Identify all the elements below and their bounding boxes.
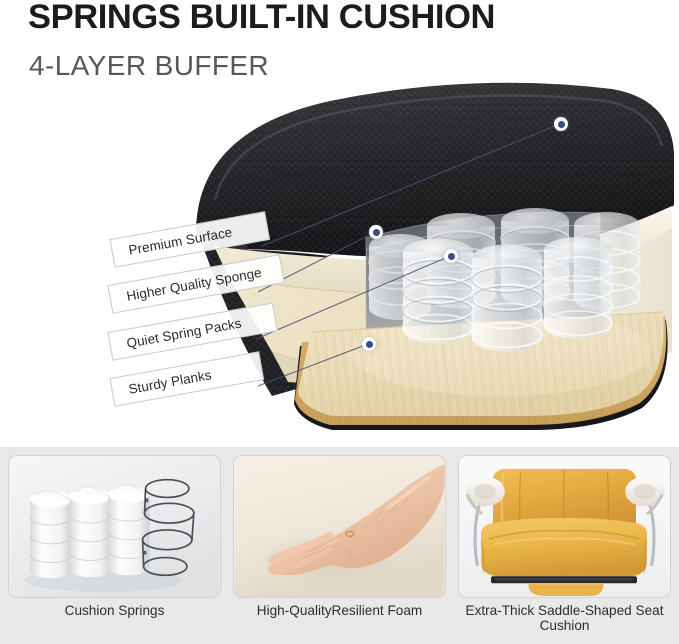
callout-dot-quiet-spring-packs[interactable]: [444, 249, 458, 263]
callout-dot-sturdy-planks[interactable]: [362, 337, 376, 351]
yellow-office-chair-illustration: [459, 456, 670, 597]
feature-panel-saddle-cushion: [458, 455, 671, 598]
callout-dot-higher-quality-sponge[interactable]: [369, 225, 383, 239]
saddle-seat-cushion: [481, 518, 647, 576]
hand-pressing-foam-illustration: [234, 456, 445, 597]
feature-panel-resilient-foam: [233, 455, 446, 598]
feature-panel-cushion-springs: [8, 455, 221, 598]
page-subtitle: 4-LAYER BUFFER: [29, 50, 269, 82]
feature-caption-resilient-foam: High-QualityResilient Foam: [230, 603, 449, 618]
feature-caption-saddle-cushion: Extra-Thick Saddle-Shaped Seat Cushion: [455, 603, 674, 633]
callout-dot-premium-surface[interactable]: [554, 117, 568, 131]
header: SPRINGS BUILT-IN CUSHION 4-LAYER BUFFER: [0, 0, 679, 96]
pocketed-springs-illustration: [9, 456, 220, 597]
feature-caption-cushion-springs: Cushion Springs: [5, 603, 224, 618]
page-title: SPRINGS BUILT-IN CUSHION: [28, 0, 495, 37]
feature-panel-strip: Cushion Springs High-QualityResilient Fo…: [0, 447, 679, 644]
